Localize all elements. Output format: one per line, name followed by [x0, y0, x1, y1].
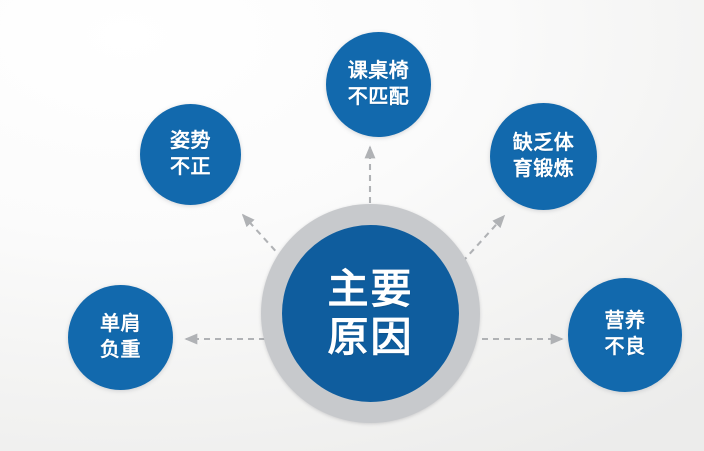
center-node-label: 主要 原因: [328, 266, 414, 361]
node-lack-of-exercise-label: 缺乏体 育锻炼: [513, 131, 575, 182]
node-desk-chair-mismatch-label: 课桌椅 不匹配: [348, 59, 410, 110]
node-lack-of-exercise[interactable]: 缺乏体 育锻炼: [490, 103, 597, 210]
node-single-shoulder-load[interactable]: 单肩 负重: [68, 285, 173, 390]
radial-diagram: 主要 原因 姿势 不正 课桌椅 不匹配 缺乏体 育锻炼 单肩 负重 营养 不良: [0, 0, 704, 451]
node-desk-chair-mismatch[interactable]: 课桌椅 不匹配: [326, 32, 431, 137]
node-malnutrition-label: 营养 不良: [605, 309, 646, 360]
node-posture[interactable]: 姿势 不正: [140, 104, 241, 205]
node-single-shoulder-load-label: 单肩 负重: [100, 312, 141, 363]
center-node-main-cause[interactable]: 主要 原因: [282, 225, 459, 402]
node-malnutrition[interactable]: 营养 不良: [568, 278, 682, 392]
node-posture-label: 姿势 不正: [170, 129, 211, 180]
